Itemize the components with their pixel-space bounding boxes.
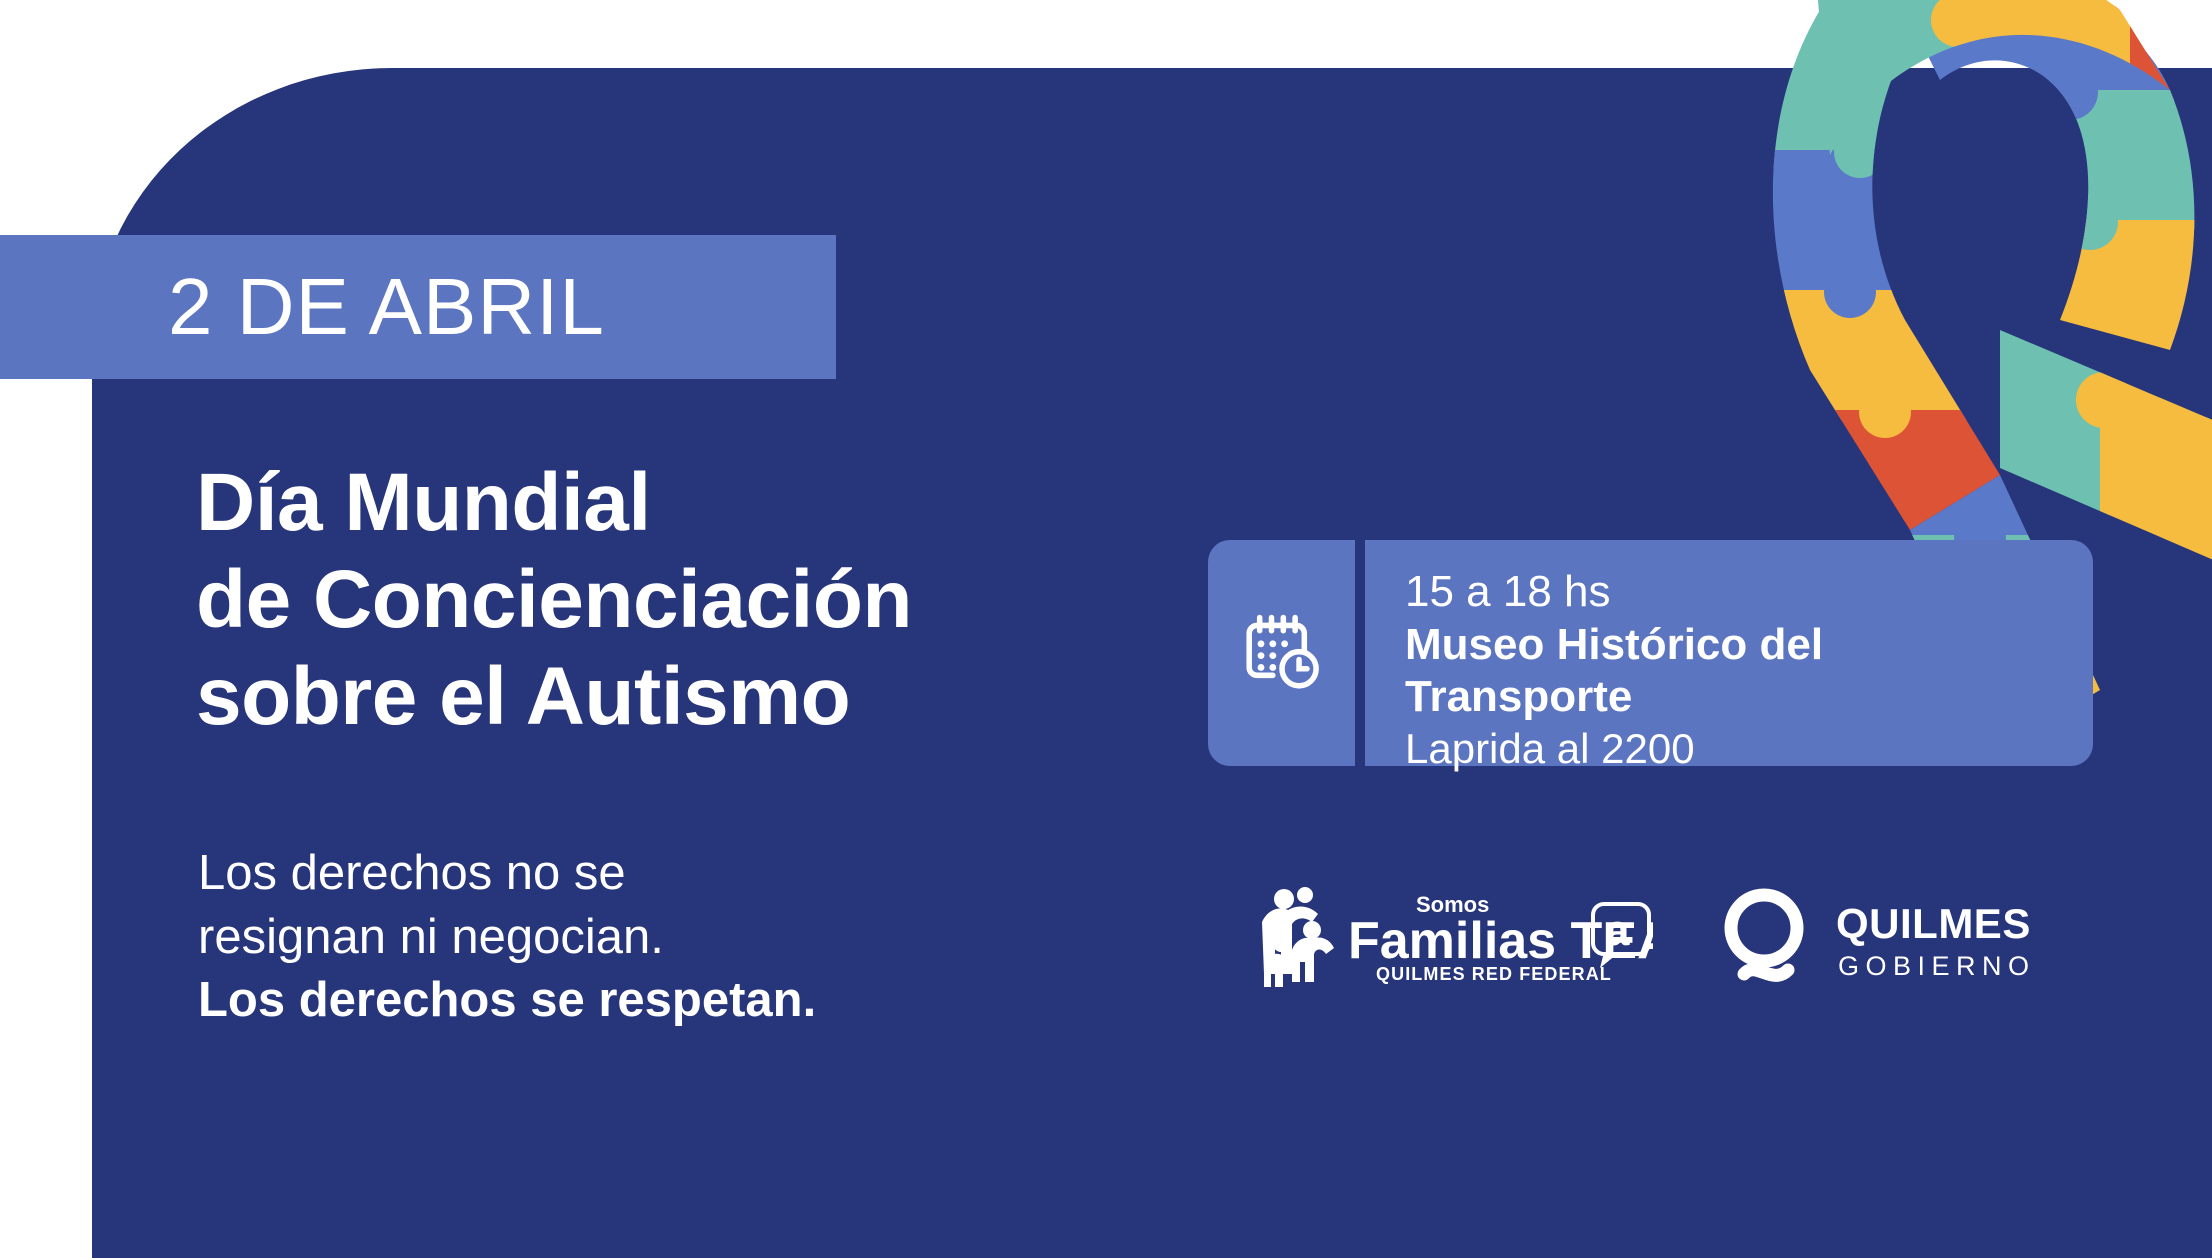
subtitle-line-3: Los derechos se respetan. bbox=[198, 969, 816, 1033]
calendar-clock-icon bbox=[1240, 611, 1324, 695]
event-info-card: 15 a 18 hs Museo Histórico del Transport… bbox=[1208, 540, 2093, 766]
page-title: Día Mundial de Concienciación sobre el A… bbox=[196, 455, 1196, 745]
quilmes-q-icon bbox=[1731, 895, 1797, 975]
event-venue-line-2: Transporte bbox=[1405, 671, 2093, 723]
event-time: 15 a 18 hs bbox=[1405, 566, 2093, 619]
date-badge: 2 DE ABRIL bbox=[0, 235, 836, 379]
headline-line-1: Día Mundial bbox=[196, 455, 1196, 552]
event-address: Laprida al 2200 bbox=[1405, 723, 2093, 774]
event-details: 15 a 18 hs Museo Histórico del Transport… bbox=[1365, 540, 2093, 766]
headline-line-2: de Concienciación bbox=[196, 552, 1196, 649]
event-venue-line-1: Museo Histórico del bbox=[1405, 619, 2093, 671]
poster-canvas: 2 DE ABRIL Día Mundial de Concienciación… bbox=[0, 0, 2212, 1258]
date-badge-label: 2 DE ABRIL bbox=[168, 261, 605, 353]
svg-text:a: a bbox=[1605, 906, 1630, 955]
familias-tea-logo: Somos Familias TEA QUILMES RED FEDERAL a bbox=[1248, 882, 1653, 990]
tea-sub-label: QUILMES RED FEDERAL bbox=[1376, 964, 1612, 984]
quilmes-gobierno-logo: QUILMES GOBIERNO bbox=[1718, 880, 2088, 992]
event-icon-box bbox=[1208, 540, 1355, 766]
subtitle: Los derechos no se resignan ni negocian.… bbox=[198, 842, 816, 1033]
headline-line-3: sobre el Autismo bbox=[196, 649, 1196, 746]
quilmes-sub-label: GOBIERNO bbox=[1838, 951, 2036, 981]
subtitle-line-2: resignan ni negocian. bbox=[198, 906, 816, 970]
subtitle-line-1: Los derechos no se bbox=[198, 842, 816, 906]
card-divider-gap bbox=[1355, 540, 1365, 766]
quilmes-main-label: QUILMES bbox=[1836, 900, 2031, 947]
family-figures-icon bbox=[1262, 887, 1334, 987]
